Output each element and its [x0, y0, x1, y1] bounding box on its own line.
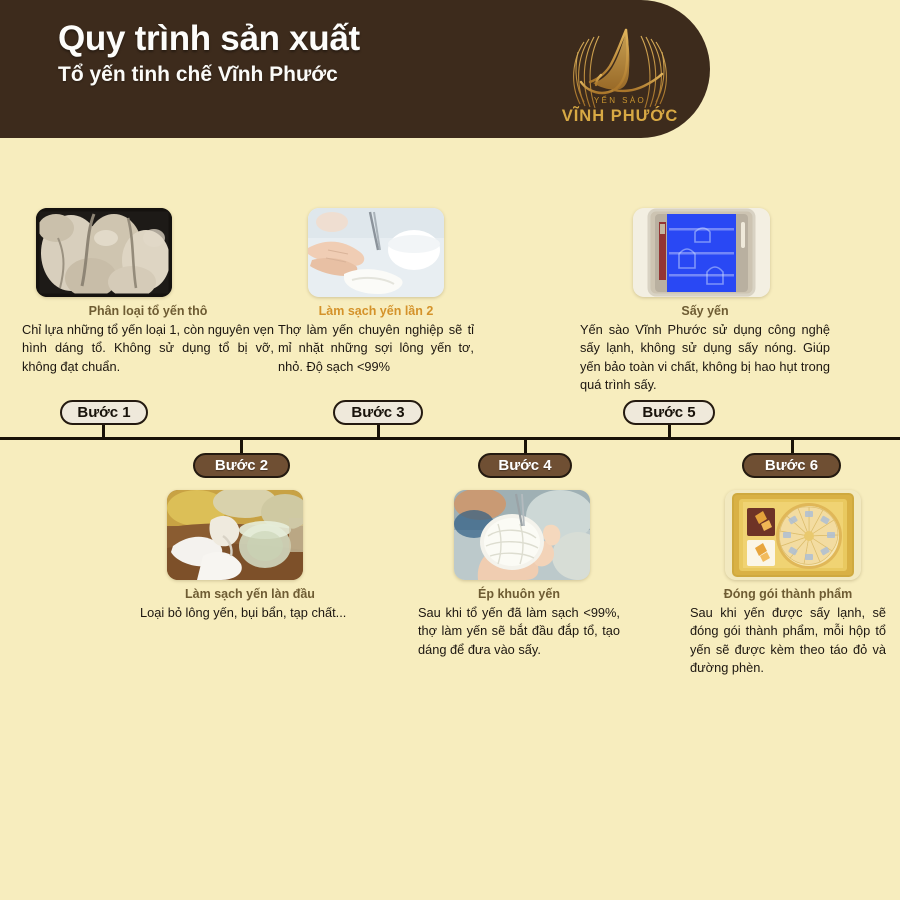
step-badge-4[interactable]: Bước 4	[478, 453, 572, 478]
step-body-4: Sau khi tổ yến đã làm sạch <99%, thợ làm…	[418, 604, 620, 659]
page-title: Quy trình sản xuất	[58, 18, 360, 61]
logo-brand-text: VĨNH PHƯỚC	[562, 105, 679, 125]
step-card-4: Ép khuôn yến Sau khi tổ yến đã làm sạch …	[418, 490, 620, 659]
header-text-group: Quy trình sản xuất Tổ yến tinh chế Vĩnh …	[58, 18, 360, 87]
page-subtitle: Tổ yến tinh chế Vĩnh Phước	[58, 63, 360, 87]
cold-drying-machine-photo	[633, 208, 770, 297]
timeline-tick-2	[240, 439, 243, 453]
timeline-tick-4	[524, 439, 527, 453]
timeline-tick-3	[377, 424, 380, 438]
step-badge-6[interactable]: Bước 6	[742, 453, 841, 478]
step-body-3: Thợ làm yến chuyên nghiệp sẽ tỉ mỉ nhặt …	[278, 321, 474, 376]
gold-gift-box-packaging-photo	[725, 490, 861, 580]
second-cleaning-tweezers-photo	[308, 208, 444, 297]
step-card-1: Phân loại tổ yến thô Chỉ lựa những tổ yế…	[22, 208, 274, 376]
step-body-1: Chỉ lựa những tổ yến loại 1, còn nguyên …	[22, 321, 274, 376]
timeline-tick-1	[102, 424, 105, 438]
step-badge-5[interactable]: Bước 5	[623, 400, 715, 425]
step-card-3: Làm sạch yến lần 2 Thợ làm yến chuyên ng…	[278, 208, 474, 376]
step-body-2: Loại bỏ lông yến, bụi bẩn, tạp chất...	[140, 604, 360, 622]
vinh-phuoc-swallow-nest-logo: YẾN SÀO VĨNH PHƯỚC	[540, 12, 700, 130]
logo-top-text: YẾN SÀO	[594, 95, 646, 105]
step-title-4: Ép khuôn yến	[418, 587, 620, 602]
step-body-6: Sau khi yến được sấy lạnh, sẽ đóng gói t…	[690, 604, 886, 677]
timeline-tick-6	[791, 439, 794, 453]
step-title-6: Đóng gói thành phẩm	[690, 587, 886, 602]
raw-birds-nest-tray-photo	[36, 208, 172, 297]
step-title-2: Làm sạch yến làn đầu	[140, 587, 360, 602]
step-badge-1[interactable]: Bước 1	[60, 400, 148, 425]
step-body-5: Yến sào Vĩnh Phước sử dụng công nghệ sấy…	[580, 321, 830, 394]
step-card-2: Làm sạch yến làn đầu Loại bỏ lông yến, b…	[140, 490, 360, 622]
nest-molding-hand-photo	[454, 490, 590, 580]
step-title-3: Làm sạch yến lần 2	[278, 304, 474, 319]
step-title-5: Sấy yến	[580, 304, 830, 319]
timeline-axis	[0, 437, 900, 440]
timeline-tick-5	[668, 424, 671, 438]
step-title-1: Phân loại tổ yến thô	[22, 304, 274, 319]
step-card-5: Sấy yến Yến sào Vĩnh Phước sử dụng công …	[580, 208, 830, 394]
step-badge-3[interactable]: Bước 3	[333, 400, 423, 425]
step-badge-2[interactable]: Bước 2	[193, 453, 290, 478]
first-cleaning-gloved-hands-photo	[167, 490, 303, 580]
step-card-6: Đóng gói thành phẩm Sau khi yến được sấy…	[690, 490, 886, 677]
